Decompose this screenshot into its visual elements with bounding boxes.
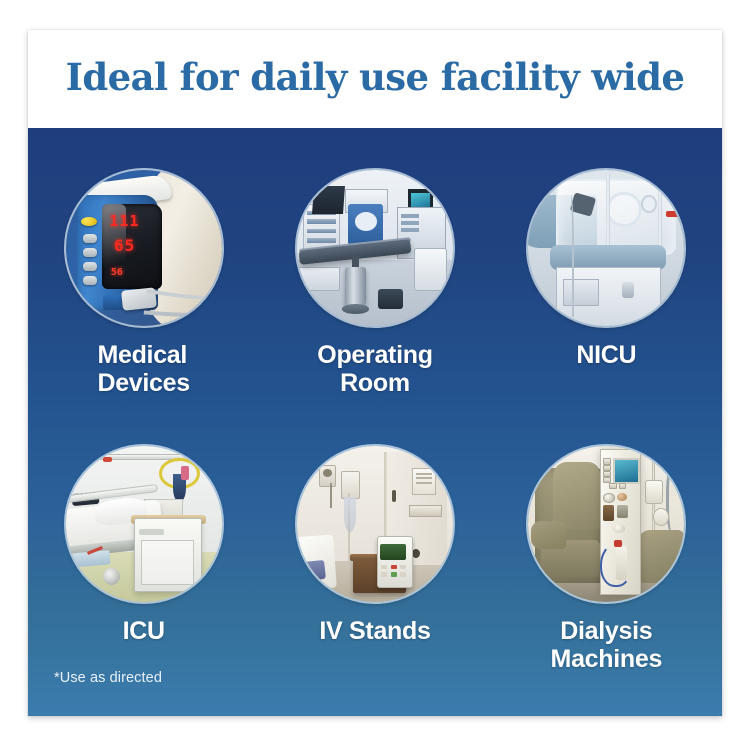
promo-card: Ideal for daily use facility wide bbox=[28, 30, 722, 716]
dialysis-machine-illustration bbox=[528, 446, 684, 602]
monitor-reading-top: 111 bbox=[109, 212, 150, 229]
photo-iv-stands bbox=[297, 446, 453, 602]
operating-room-illustration bbox=[297, 170, 453, 326]
caption-line-1: ICU bbox=[123, 617, 165, 645]
caption-iv-stands: IV Stands bbox=[319, 618, 430, 646]
caption-line-2: Devices bbox=[97, 369, 189, 397]
caption-line-1: NICU bbox=[576, 341, 636, 369]
caption-dialysis-machines: Dialysis Machines bbox=[551, 618, 663, 673]
caption-line-1: Medical bbox=[97, 341, 187, 369]
photo-operating-room bbox=[297, 170, 453, 326]
feature-row-1: 111 65 56 bbox=[28, 170, 722, 397]
feature-row-2: ICU bbox=[28, 446, 722, 673]
header-band: Ideal for daily use facility wide bbox=[28, 30, 722, 128]
feature-item-operating-room[interactable]: Operating Room bbox=[259, 170, 490, 397]
page-root: Ideal for daily use facility wide bbox=[0, 0, 750, 750]
icu-room-illustration bbox=[66, 446, 222, 602]
caption-line-2: Machines bbox=[551, 645, 663, 673]
caption-nicu: NICU bbox=[576, 342, 636, 370]
feature-item-nicu[interactable]: NICU bbox=[491, 170, 722, 397]
photo-icu bbox=[66, 446, 222, 602]
photo-medical-devices: 111 65 56 bbox=[66, 170, 222, 326]
iv-stand-illustration bbox=[297, 446, 453, 602]
caption-medical-devices: Medical Devices bbox=[97, 342, 189, 397]
monitor-reading-mid: 65 bbox=[114, 236, 151, 253]
page-title: Ideal for daily use facility wide bbox=[66, 59, 685, 100]
caption-operating-room: Operating Room bbox=[317, 342, 432, 397]
caption-icu: ICU bbox=[123, 618, 165, 646]
feature-item-dialysis-machines[interactable]: Dialysis Machines bbox=[491, 446, 722, 673]
nicu-incubator-illustration bbox=[528, 170, 684, 326]
feature-item-iv-stands[interactable]: IV Stands bbox=[259, 446, 490, 673]
caption-line-1: IV Stands bbox=[319, 617, 430, 645]
footnote-disclaimer: *Use as directed bbox=[54, 670, 162, 686]
caption-line-1: Operating bbox=[317, 341, 432, 369]
feature-item-medical-devices[interactable]: 111 65 56 bbox=[28, 170, 259, 397]
feature-panel: 111 65 56 bbox=[28, 128, 722, 716]
caption-line-1: Dialysis bbox=[560, 617, 652, 645]
caption-line-2: Room bbox=[340, 369, 410, 397]
monitor-reading-low: 56 bbox=[111, 267, 142, 279]
medical-monitor-illustration: 111 65 56 bbox=[66, 170, 222, 326]
feature-item-icu[interactable]: ICU bbox=[28, 446, 259, 673]
photo-dialysis-machines bbox=[528, 446, 684, 602]
photo-nicu bbox=[528, 170, 684, 326]
